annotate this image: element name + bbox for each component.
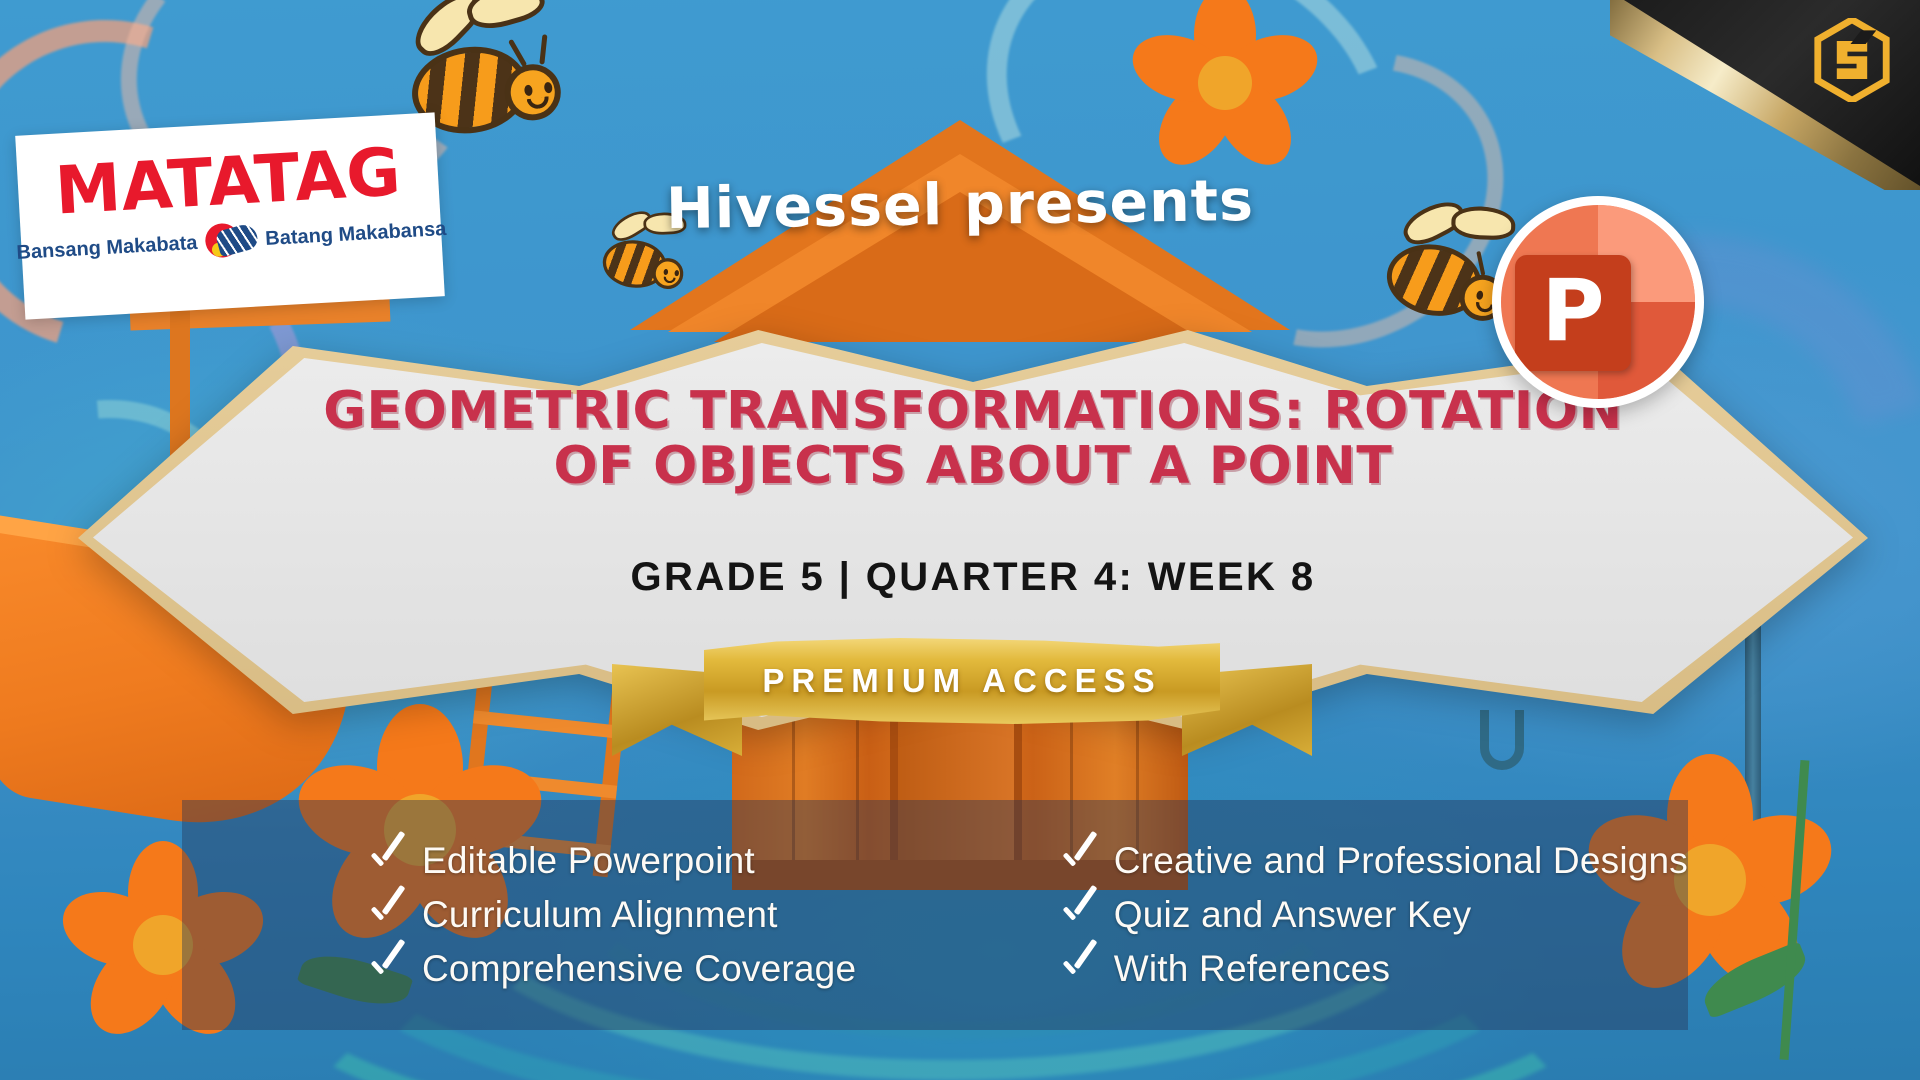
- check-icon: [364, 947, 408, 991]
- feature-column-right: Creative and Professional Designs Quiz a…: [978, 800, 1688, 1030]
- grade-quarter-subtitle: GRADE 5 | QUARTER 4: WEEK 8: [78, 555, 1868, 600]
- premium-access-ribbon: PREMIUM ACCESS: [612, 638, 1312, 748]
- feature-item: Creative and Professional Designs: [1056, 839, 1688, 883]
- ribbon-label: PREMIUM ACCESS: [704, 638, 1220, 724]
- page-title: GEOMETRIC TRANSFORMATIONS: ROTATION OF O…: [238, 384, 1708, 494]
- feature-label: With References: [1114, 948, 1391, 990]
- feature-label: Creative and Professional Designs: [1114, 840, 1688, 882]
- feature-label: Quiz and Answer Key: [1114, 894, 1472, 936]
- feature-item: Editable Powerpoint: [364, 839, 978, 883]
- check-icon: [1056, 839, 1100, 883]
- feature-item: Quiz and Answer Key: [1056, 893, 1688, 937]
- check-icon: [1056, 893, 1100, 937]
- feature-item: With References: [1056, 947, 1688, 991]
- feature-item: Curriculum Alignment: [364, 893, 978, 937]
- check-icon: [1056, 947, 1100, 991]
- page-title-line-2: OF OBJECTS ABOUT A POINT: [238, 439, 1708, 494]
- feature-item: Comprehensive Coverage: [364, 947, 978, 991]
- page-title-line-1: GEOMETRIC TRANSFORMATIONS: ROTATION: [238, 384, 1708, 439]
- check-icon: [364, 893, 408, 937]
- feature-label: Comprehensive Coverage: [422, 948, 856, 990]
- feature-band: Editable Powerpoint Curriculum Alignment…: [182, 800, 1688, 1030]
- powerpoint-icon: P: [1501, 205, 1695, 399]
- powerpoint-letter: P: [1515, 255, 1631, 371]
- hivessel-hex-logo-icon: [1814, 18, 1890, 102]
- feature-column-left: Editable Powerpoint Curriculum Alignment…: [182, 800, 978, 1030]
- slide-cover: MATATAG Bansang Makabata Batang Makabans…: [0, 0, 1920, 1080]
- powerpoint-badge: P: [1492, 196, 1704, 408]
- feature-label: Curriculum Alignment: [422, 894, 778, 936]
- flower-illustration: [1160, 18, 1290, 148]
- feature-label: Editable Powerpoint: [422, 840, 755, 882]
- check-icon: [364, 839, 408, 883]
